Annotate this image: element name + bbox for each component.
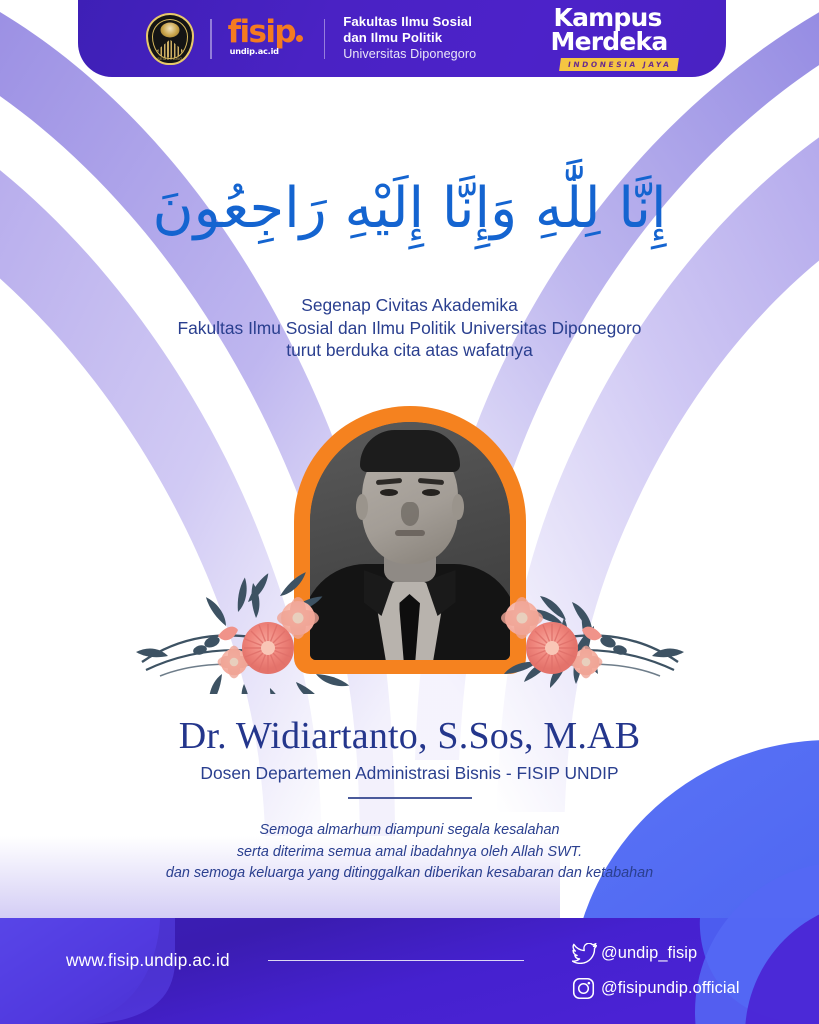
- undip-emblem-icon: SEMARANG: [146, 13, 194, 65]
- faculty-line-2: dan Ilmu Politik: [343, 30, 476, 46]
- social-twitter[interactable]: @undip_fisip: [572, 936, 740, 971]
- portrait-ear-right: [452, 494, 464, 520]
- portrait-ear-left: [356, 494, 368, 520]
- prayer-message: Semoga almarhum diampuni segala kesalaha…: [0, 820, 819, 885]
- header-divider-1: [210, 19, 212, 59]
- prayer-line-1: Semoga almarhum diampuni segala kesalaha…: [0, 820, 819, 842]
- fisip-dot-icon: [296, 35, 303, 42]
- condolence-poster: SEMARANG fisip undip.ac.id Fakultas Ilmu…: [0, 0, 819, 1024]
- footer-bar: www.fisip.undip.ac.id @undip_fisip: [0, 918, 819, 1024]
- condolence-line-3: turut berduka cita atas wafatnya: [0, 339, 819, 362]
- kampus-merdeka-line-2: Merdeka: [551, 30, 678, 54]
- social-links: @undip_fisip @fisipundip.official: [572, 936, 740, 1006]
- prayer-line-2: serta diterima semua amal ibadahnya oleh…: [0, 842, 819, 864]
- instagram-icon: [572, 977, 599, 1001]
- portrait-photo: [310, 422, 510, 660]
- portrait-eye-right: [422, 489, 440, 496]
- kampus-merdeka-line-1: Kampus: [554, 6, 678, 30]
- deceased-name: Dr. Widiartanto, S.Sos, M.AB: [0, 714, 819, 758]
- portrait-eye-left: [380, 489, 398, 496]
- university-name: Universitas Diponegoro: [343, 47, 476, 62]
- portrait-nose: [401, 502, 419, 526]
- footer-website[interactable]: www.fisip.undip.ac.id: [66, 950, 230, 971]
- condolence-line-2: Fakultas Ilmu Sosial dan Ilmu Politik Un…: [0, 317, 819, 340]
- portrait-frame: [294, 406, 526, 674]
- section-divider: [348, 797, 472, 799]
- portrait-hair: [360, 430, 460, 472]
- undip-emblem-base-text: SEMARANG: [155, 56, 185, 62]
- social-instagram[interactable]: @fisipundip.official: [572, 971, 740, 1006]
- faculty-line-1: Fakultas Ilmu Sosial: [343, 14, 476, 30]
- prayer-line-3: dan semoga keluarga yang ditinggalkan di…: [0, 863, 819, 885]
- kampus-merdeka-tagline: INDONESIA JAYA: [559, 58, 679, 71]
- header-divider-2: [324, 19, 326, 59]
- portrait-mouth: [395, 530, 425, 536]
- deceased-role: Dosen Departemen Administrasi Bisnis - F…: [0, 763, 819, 784]
- faculty-name-block: Fakultas Ilmu Sosial dan Ilmu Politik Un…: [343, 14, 476, 63]
- footer-rule: [268, 960, 524, 961]
- condolence-message: Segenap Civitas Akademika Fakultas Ilmu …: [0, 294, 819, 362]
- condolence-line-1: Segenap Civitas Akademika: [0, 294, 819, 317]
- fisip-logo: fisip undip.ac.id: [228, 16, 308, 62]
- instagram-handle: @fisipundip.official: [601, 979, 740, 998]
- twitter-icon: [572, 942, 599, 966]
- arabic-calligraphy: إِنَّا لِلَّٰهِ وَإِنَّا إِلَيْهِ رَاجِع…: [0, 166, 819, 253]
- kampus-merdeka-logo: Kampus Merdeka INDONESIA JAYA: [554, 6, 678, 72]
- twitter-handle: @undip_fisip: [601, 944, 697, 963]
- fisip-wordmark: fisip: [228, 15, 303, 49]
- header-banner: SEMARANG fisip undip.ac.id Fakultas Ilmu…: [78, 0, 726, 77]
- fisip-url-label: undip.ac.id: [230, 46, 279, 56]
